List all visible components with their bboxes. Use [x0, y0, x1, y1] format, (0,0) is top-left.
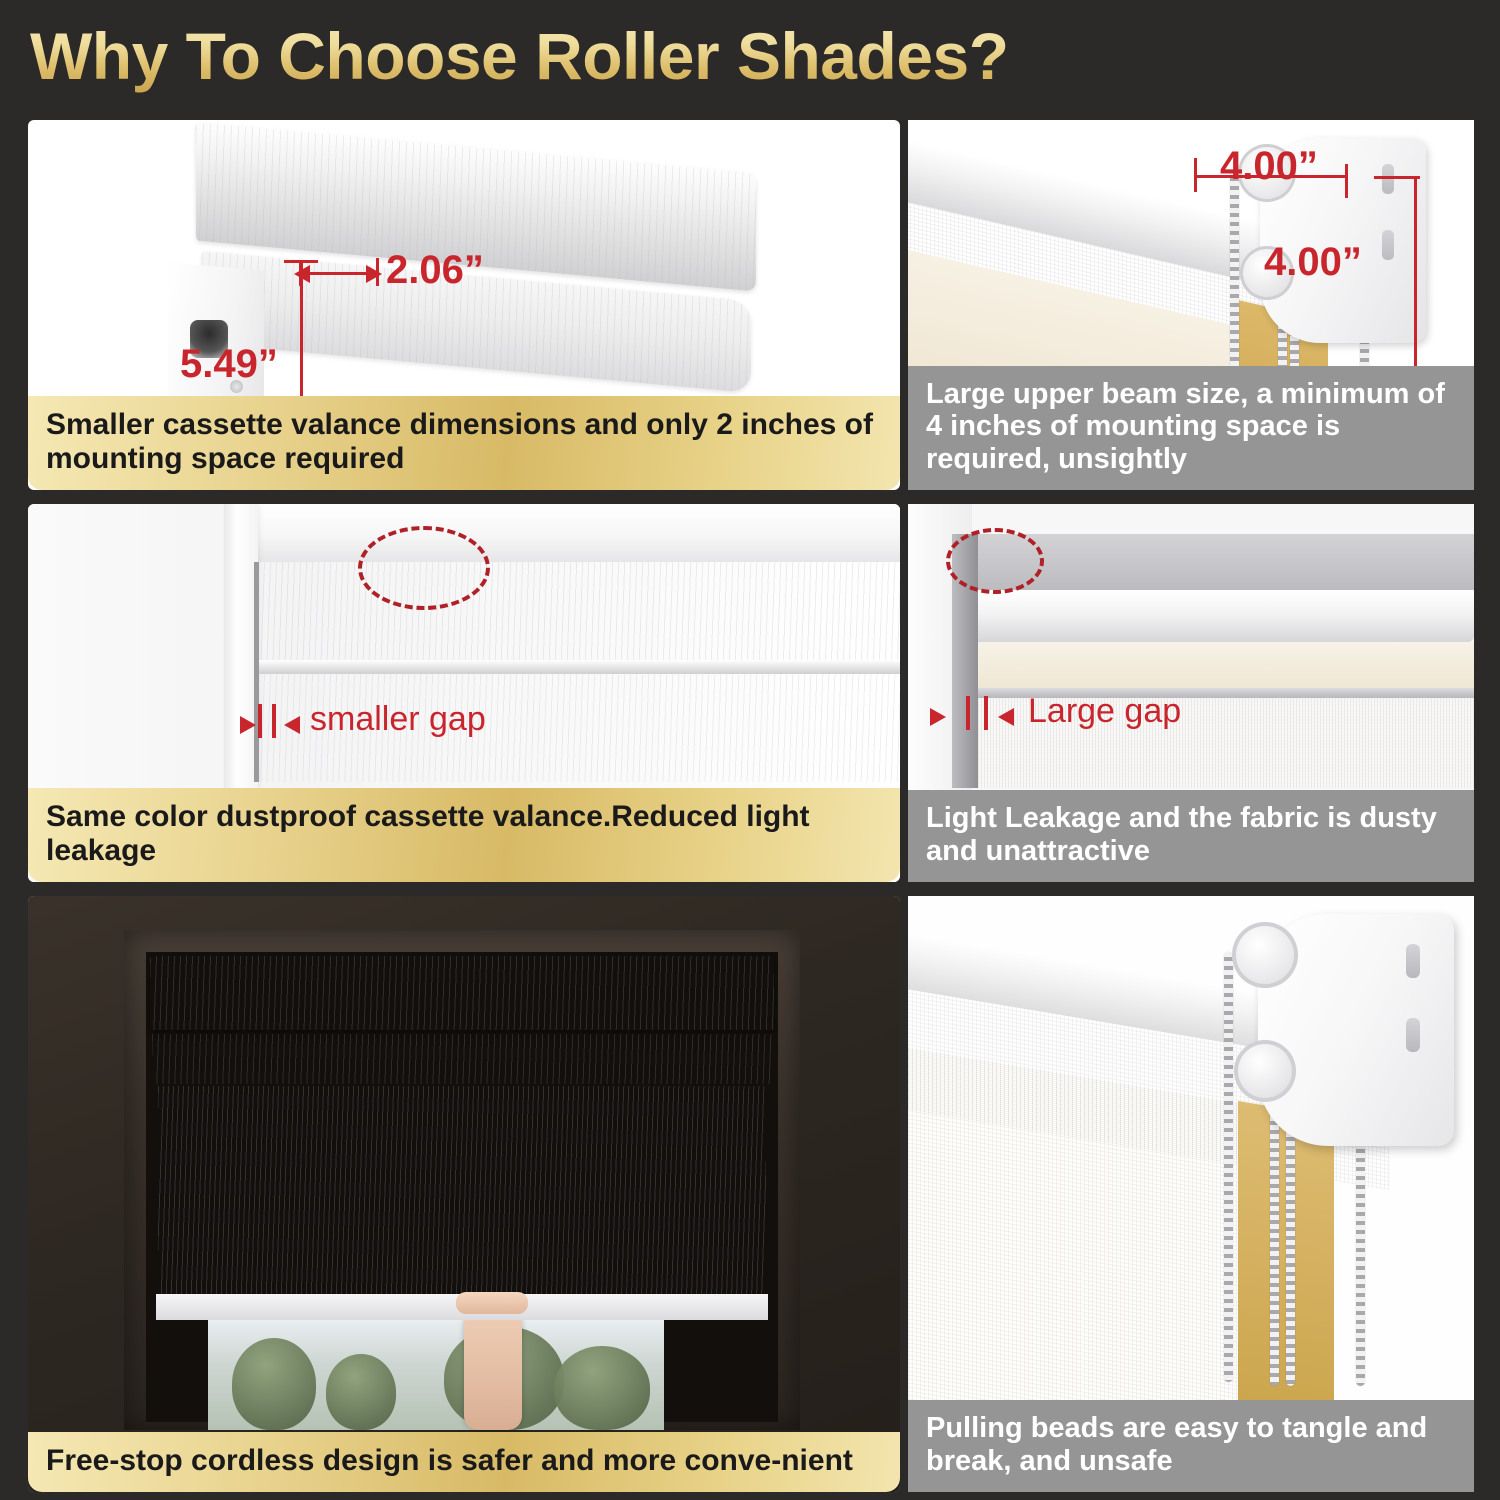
- shade-rail: [256, 660, 900, 674]
- gap-tick-a: [258, 704, 262, 738]
- depth-dimension-label: 2.06”: [386, 248, 484, 293]
- gap-arrow-right: [998, 708, 1014, 726]
- panel-caption-good-cordless: Free-stop cordless design is safer and m…: [28, 1432, 900, 1492]
- panel-caption-bad-gap: Light Leakage and the fabric is dusty an…: [908, 790, 1474, 882]
- beam-height-label: 4.00”: [1264, 240, 1362, 285]
- panel-bad-beads: Pulling beads are easy to tangle and bre…: [908, 896, 1474, 1492]
- tree: [232, 1338, 316, 1430]
- panel-good-cordless: Free-stop cordless design is safer and m…: [28, 896, 900, 1492]
- beam-width-label: 4.00”: [1220, 144, 1318, 189]
- roller-tube: [972, 590, 1474, 642]
- seam-highlight-ellipse-icon: [358, 526, 490, 610]
- depth-dim-tick-right: [376, 258, 379, 286]
- comparison-grid: 2.06” 5.49” Smaller cassette valance dim…: [0, 112, 1500, 1500]
- bracket-slot-icon: [1382, 230, 1394, 260]
- tree: [554, 1346, 650, 1430]
- grip-handle: [456, 1292, 528, 1314]
- gap-arrow-right: [284, 716, 300, 734]
- cordless-window-photo: [28, 896, 900, 1492]
- gap-edge: [254, 562, 259, 782]
- panel-caption-good-cassette: Smaller cassette valance dimensions and …: [28, 396, 900, 490]
- cassette-valance: [150, 956, 774, 1030]
- header: Why To Choose Roller Shades?: [0, 0, 1500, 112]
- gap-tick-a: [966, 696, 970, 730]
- gap-arrow-left: [240, 716, 256, 734]
- shade-fabric-cream: [972, 642, 1474, 688]
- panel-caption-good-gap: Same color dustproof cassette valance.Re…: [28, 788, 900, 882]
- height-dimension-label: 5.49”: [180, 342, 278, 387]
- bead-chain: [1224, 952, 1233, 1382]
- gap-tick-b: [272, 704, 276, 738]
- tree: [326, 1354, 396, 1430]
- depth-dim-arrow-right: [366, 265, 382, 283]
- page-title: Why To Choose Roller Shades?: [30, 18, 1009, 94]
- bracket-slot-icon: [1406, 1018, 1420, 1052]
- bracket-slot-icon: [1382, 164, 1394, 194]
- beam-height-dim-line: [1414, 178, 1417, 370]
- window-glass: [208, 1320, 664, 1430]
- gap-arrow-left: [930, 708, 946, 726]
- panel-bad-gap: Large gap Light Leakage and the fabric i…: [908, 504, 1474, 882]
- height-dim-tick-top: [284, 260, 318, 263]
- shade-fabric: [158, 1086, 766, 1298]
- large-gap-label: Large gap: [1028, 692, 1181, 731]
- cassette-valance-lower: [152, 1034, 772, 1084]
- panel-caption-bad-beads: Pulling beads are easy to tangle and bre…: [908, 1400, 1474, 1492]
- cassette-shade-upper: [258, 562, 900, 662]
- beam-width-tick-right: [1345, 164, 1348, 198]
- beam-height-tick-top: [1374, 176, 1420, 179]
- hand: [464, 1302, 522, 1430]
- seam-highlight-ellipse-icon: [946, 528, 1044, 594]
- bead-chain: [1356, 1126, 1365, 1386]
- beam-width-tick-left: [1194, 158, 1197, 192]
- panel-caption-bad-beam: Large upper beam size, a minimum of 4 in…: [908, 366, 1474, 490]
- roller-bracket: [1258, 914, 1454, 1146]
- panel-bad-beam: 4.00” 4.00” Large upper beam size, a min…: [908, 120, 1474, 490]
- gap-tick-b: [984, 696, 988, 730]
- panel-good-cassette: 2.06” 5.49” Smaller cassette valance dim…: [28, 120, 900, 490]
- upper-beam-shadow: [972, 534, 1474, 590]
- bracket-slot-icon: [1406, 944, 1420, 978]
- smaller-gap-label: smaller gap: [310, 700, 486, 739]
- panel-good-gap: smaller gap Same color dustproof cassett…: [28, 504, 900, 882]
- window-head-jamb: [224, 504, 900, 562]
